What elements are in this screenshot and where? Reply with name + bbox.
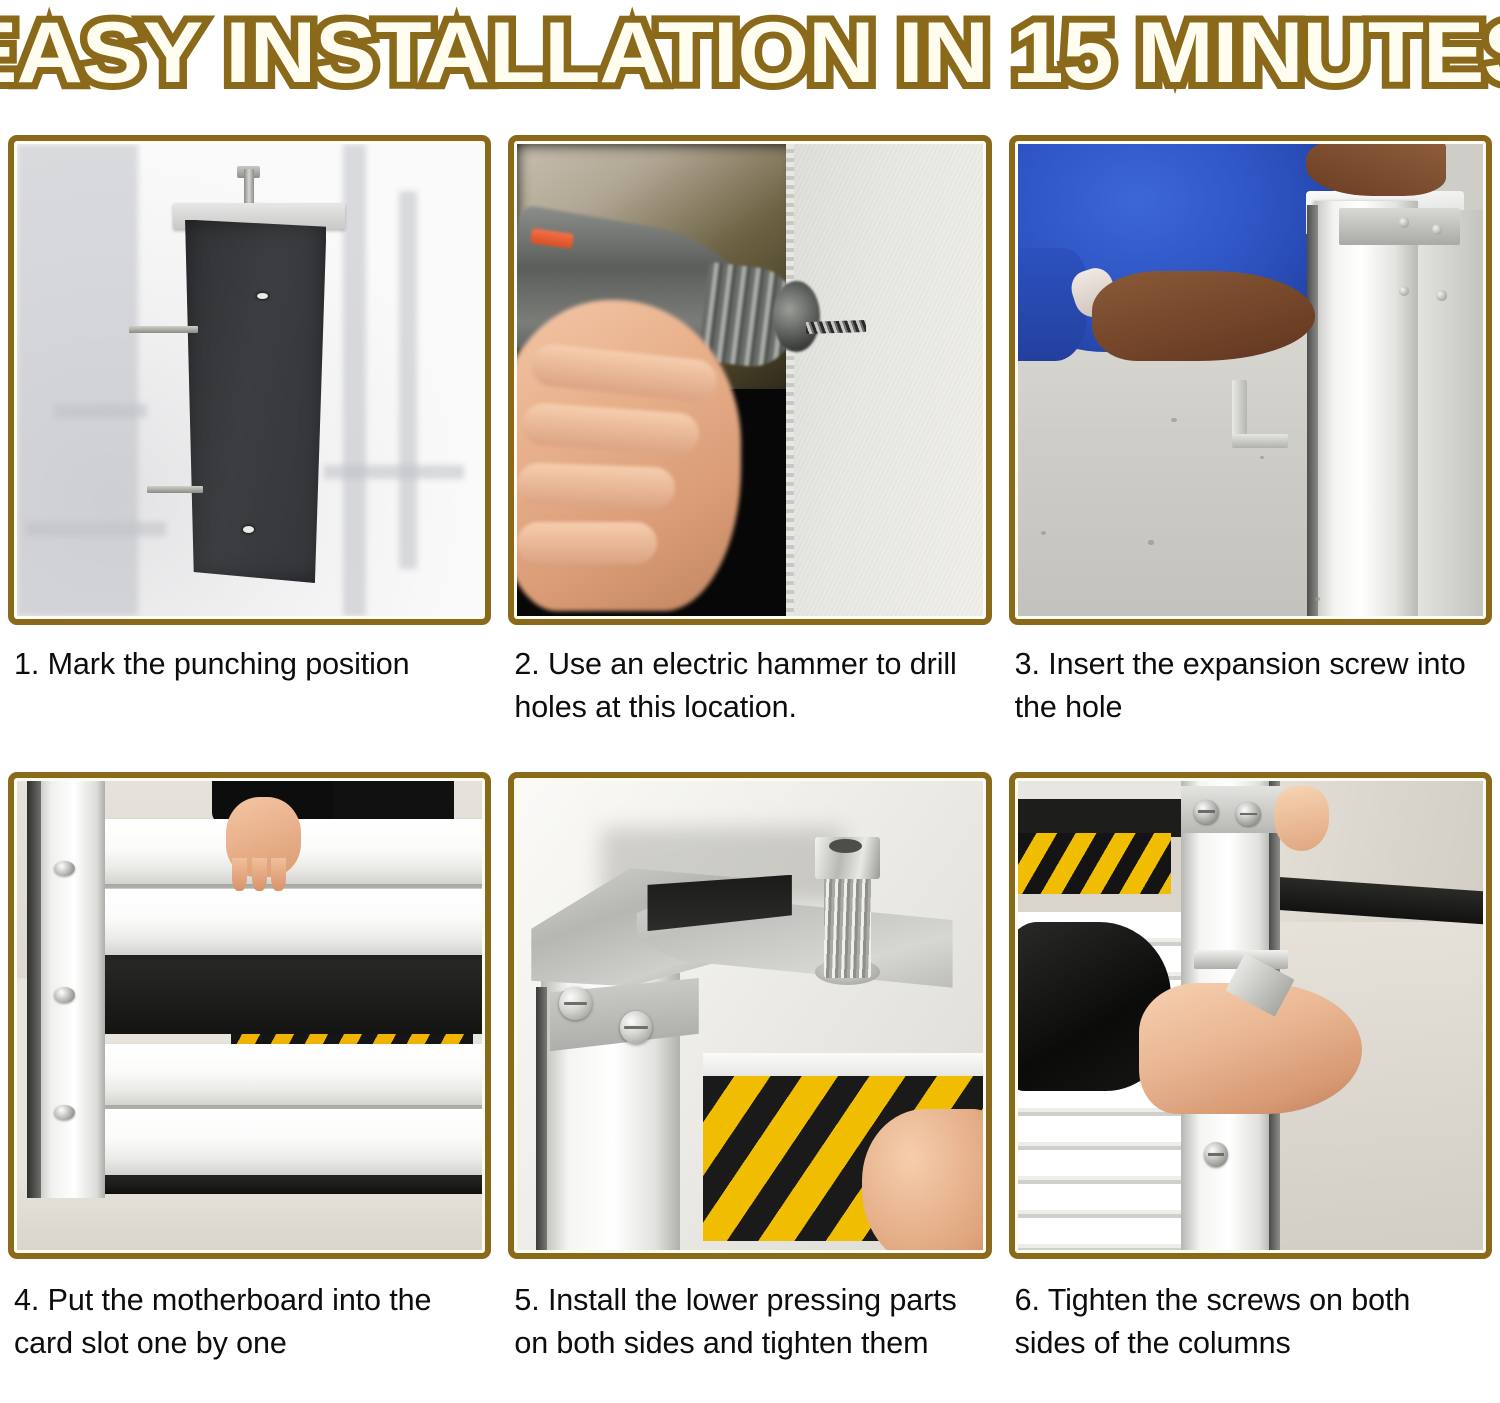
photo-frame-5	[508, 772, 991, 1259]
photo-frame-1	[8, 135, 491, 625]
step-1-caption: 1. Mark the punching position	[8, 625, 491, 772]
step-3-image-cell	[1009, 135, 1492, 625]
step-5-caption: 5. Install the lower pressing parts on b…	[508, 1259, 991, 1279]
photo-tighten-screws	[1018, 781, 1483, 1250]
step-3-caption: 3. Insert the expansion screw into the h…	[1009, 625, 1492, 772]
step-2-caption: 2. Use an electric hammer to drill holes…	[508, 625, 991, 772]
step-2-image-cell	[508, 135, 991, 625]
steps-grid: 1. Mark the punching position 2. Use an …	[8, 135, 1492, 1255]
step-4-image-cell	[8, 772, 491, 1259]
step-6-caption: 6. Tighten the screws on both sides of t…	[1009, 1259, 1492, 1279]
photo-insert-boards	[17, 781, 482, 1250]
photo-frame-6	[1009, 772, 1492, 1259]
step-5-image-cell	[508, 772, 991, 1259]
photo-frame-4	[8, 772, 491, 1259]
step-4-caption: 4. Put the motherboard into the card slo…	[8, 1259, 491, 1279]
photo-frame-3	[1009, 135, 1492, 625]
step-6-image-cell	[1009, 772, 1492, 1259]
photo-insert-expansion-screw	[1018, 144, 1483, 616]
step-1-image-cell	[8, 135, 491, 625]
banner: EASY INSTALLATION IN 15 MINUTES	[0, 0, 1500, 105]
page-title: EASY INSTALLATION IN 15 MINUTES	[0, 10, 1500, 96]
photo-frame-2	[508, 135, 991, 625]
photo-drill-holes	[517, 144, 982, 616]
installation-guide-page: EASY INSTALLATION IN 15 MINUTES	[0, 0, 1500, 1403]
photo-install-pressing-parts	[517, 781, 982, 1250]
photo-mark-punching-position	[17, 144, 482, 616]
